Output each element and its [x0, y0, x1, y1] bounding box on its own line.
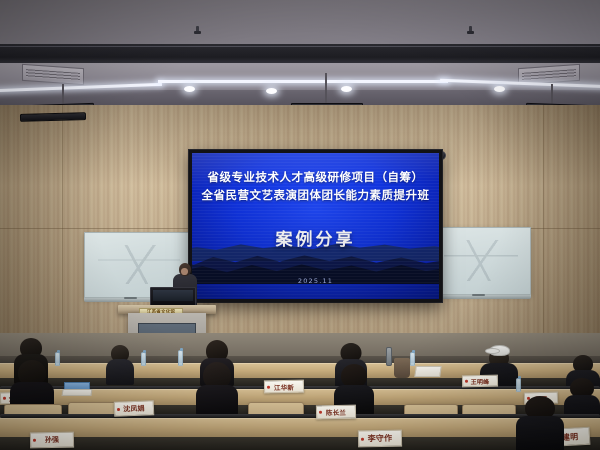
name-card-text: 王明峰	[471, 376, 490, 385]
slide-title-line-1: 省级专业技术人才高级研修项目（自筹）	[192, 169, 439, 185]
document-sheet	[62, 389, 93, 396]
led-presentation-screen[interactable]: 省级专业技术人才高级研修项目（自筹） 全省民营文艺表演团体团长能力素质提升班 案…	[189, 150, 442, 302]
attendee-torso	[196, 385, 238, 415]
ceiling-downlight	[494, 86, 505, 92]
ceiling-mount-nub	[469, 26, 472, 33]
wall-panel-seam	[62, 105, 63, 335]
ceiling-led-strip-center	[158, 80, 448, 83]
desk-row-near-front	[0, 437, 600, 450]
presenter-face	[181, 268, 188, 275]
water-bottle	[516, 378, 521, 392]
lecture-hall-scene: 省级专业技术人才高级研修项目（自筹） 全省民营文艺表演团体团长能力素质提升班 案…	[0, 0, 600, 450]
slide-date: 2025.11	[192, 277, 439, 285]
whiteboard-right	[431, 227, 531, 295]
slide-title-line-2: 全省民营文艺表演团体团长能力素质提升班	[192, 187, 439, 203]
attendee-torso	[106, 359, 134, 385]
water-bottle	[55, 352, 60, 366]
name-card: 江华新	[264, 380, 304, 394]
whiteboard-marker	[124, 297, 137, 299]
projector-mount-rod	[325, 73, 327, 105]
name-card-dot	[33, 439, 36, 442]
name-card-dot	[117, 407, 120, 410]
name-card-dot	[267, 385, 270, 388]
document-sheet	[414, 366, 442, 377]
projector-mount-rod	[62, 84, 64, 106]
attendee-row2-left	[10, 360, 54, 408]
wall-panel-seam	[543, 105, 544, 335]
ceiling-slab	[0, 0, 600, 48]
whiteboard-residue	[444, 240, 519, 281]
ceiling-downlight	[341, 86, 352, 92]
attendee-torso	[516, 416, 564, 450]
slide-headline: 案例分享	[192, 225, 439, 250]
ceiling-downlight	[266, 88, 277, 94]
name-card: 沈凤娟	[114, 400, 154, 416]
water-bottle	[141, 352, 146, 366]
baseball-cap	[489, 345, 510, 356]
ceiling-mount-nub	[196, 26, 199, 33]
ceiling-downlight	[184, 86, 195, 92]
handbag	[394, 358, 410, 378]
name-card-dot	[3, 397, 6, 400]
name-card-dot	[319, 411, 322, 414]
name-card-text: 陈长兰	[326, 407, 346, 417]
name-card-text: 江华新	[274, 381, 294, 391]
thermos-bottle	[386, 347, 392, 366]
name-card-text: 李守作	[368, 433, 393, 444]
name-card: 孙强	[30, 432, 74, 449]
attendee-center-left	[106, 345, 134, 383]
whiteboard-residue	[98, 245, 180, 285]
water-bottle	[410, 352, 415, 366]
desk-row-near	[0, 418, 600, 438]
water-bottle	[178, 350, 183, 366]
name-card-text: 沈凤娟	[123, 403, 145, 414]
name-card-text: 孙强	[45, 435, 60, 445]
screen-surface: 省级专业技术人才高级研修项目（自筹） 全省民营文艺表演团体团长能力素质提升班 案…	[192, 153, 439, 299]
whiteboard-marker	[472, 294, 485, 296]
wall-speaker-left	[20, 112, 86, 122]
name-card: 陈长兰	[316, 405, 356, 420]
name-card: 李守作	[358, 430, 402, 448]
attendee-row3-right	[516, 396, 564, 450]
name-card: 王明峰	[462, 375, 498, 388]
podium-monitor	[150, 287, 196, 306]
attendee-row2-center	[196, 362, 238, 412]
name-card-dot	[361, 437, 364, 440]
name-card-dot	[465, 380, 468, 383]
